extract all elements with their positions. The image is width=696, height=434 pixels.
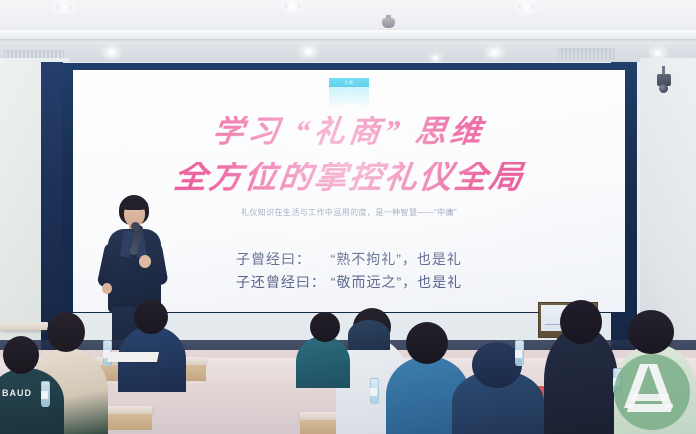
attendee-long-hair-head [560,300,602,344]
downlight-6 [488,49,501,56]
attendee-back-left [348,320,390,350]
slide-title-line2: 全方位的掌控礼仪全局 [73,162,625,196]
logo-v-mark [628,364,674,408]
presenter-fringe [121,199,148,210]
slide-title-line1: 学习 “礼商” 思维 [73,116,625,148]
table-paper-left [107,352,159,362]
front-table-left [0,322,48,330]
attendee-navy-shirt-head [134,300,168,334]
downlight-5 [302,48,315,55]
downlight-4 [105,49,118,56]
slide-ribbon-tail [329,87,369,109]
green-circle-logo-watermark [614,354,690,430]
attendee-scarf-left-head [47,312,85,352]
camera-lens-icon [659,84,668,93]
ceiling-sensor [432,56,439,60]
downlight-1 [56,3,72,11]
bottle-label-4 [515,350,522,358]
water-bottle-1 [41,381,50,407]
presenter-hand-left [102,283,112,294]
logo-bar-lower [627,404,673,412]
attendee-dark-jacket-head [3,336,39,374]
presenter-hand-right [139,255,151,268]
attendee-teal-shirt [296,336,350,388]
jacket-brand-text: BAUD [2,388,32,398]
downlight-7 [652,50,664,56]
bottle-label-1 [41,391,48,399]
ceiling-light-strip [0,30,696,39]
bottle-label-3 [370,388,377,396]
attendee-blue-polo-head [406,322,448,364]
slide-ribbon: 礼商 [329,78,369,109]
downlight-2 [284,1,301,10]
smoke-detector-icon [382,18,395,28]
logo-bar-upper [631,394,669,401]
water-bottle-4 [515,340,524,366]
attendee-teal-shirt-head [310,312,340,342]
slide-ribbon-label: 礼商 [345,81,354,85]
slide-ribbon-tab: 礼商 [329,78,369,87]
lecture-hall-scene: 礼商 学习 “礼商” 思维 全方位的掌控礼仪全局 礼仪知识在生活与工作中运用的度… [0,0,696,434]
microphone-head [131,222,140,231]
water-bottle-3 [370,378,379,404]
attendee-green-top-head [628,310,674,354]
downlight-3 [518,2,535,11]
ceiling-vent-right [558,48,615,59]
